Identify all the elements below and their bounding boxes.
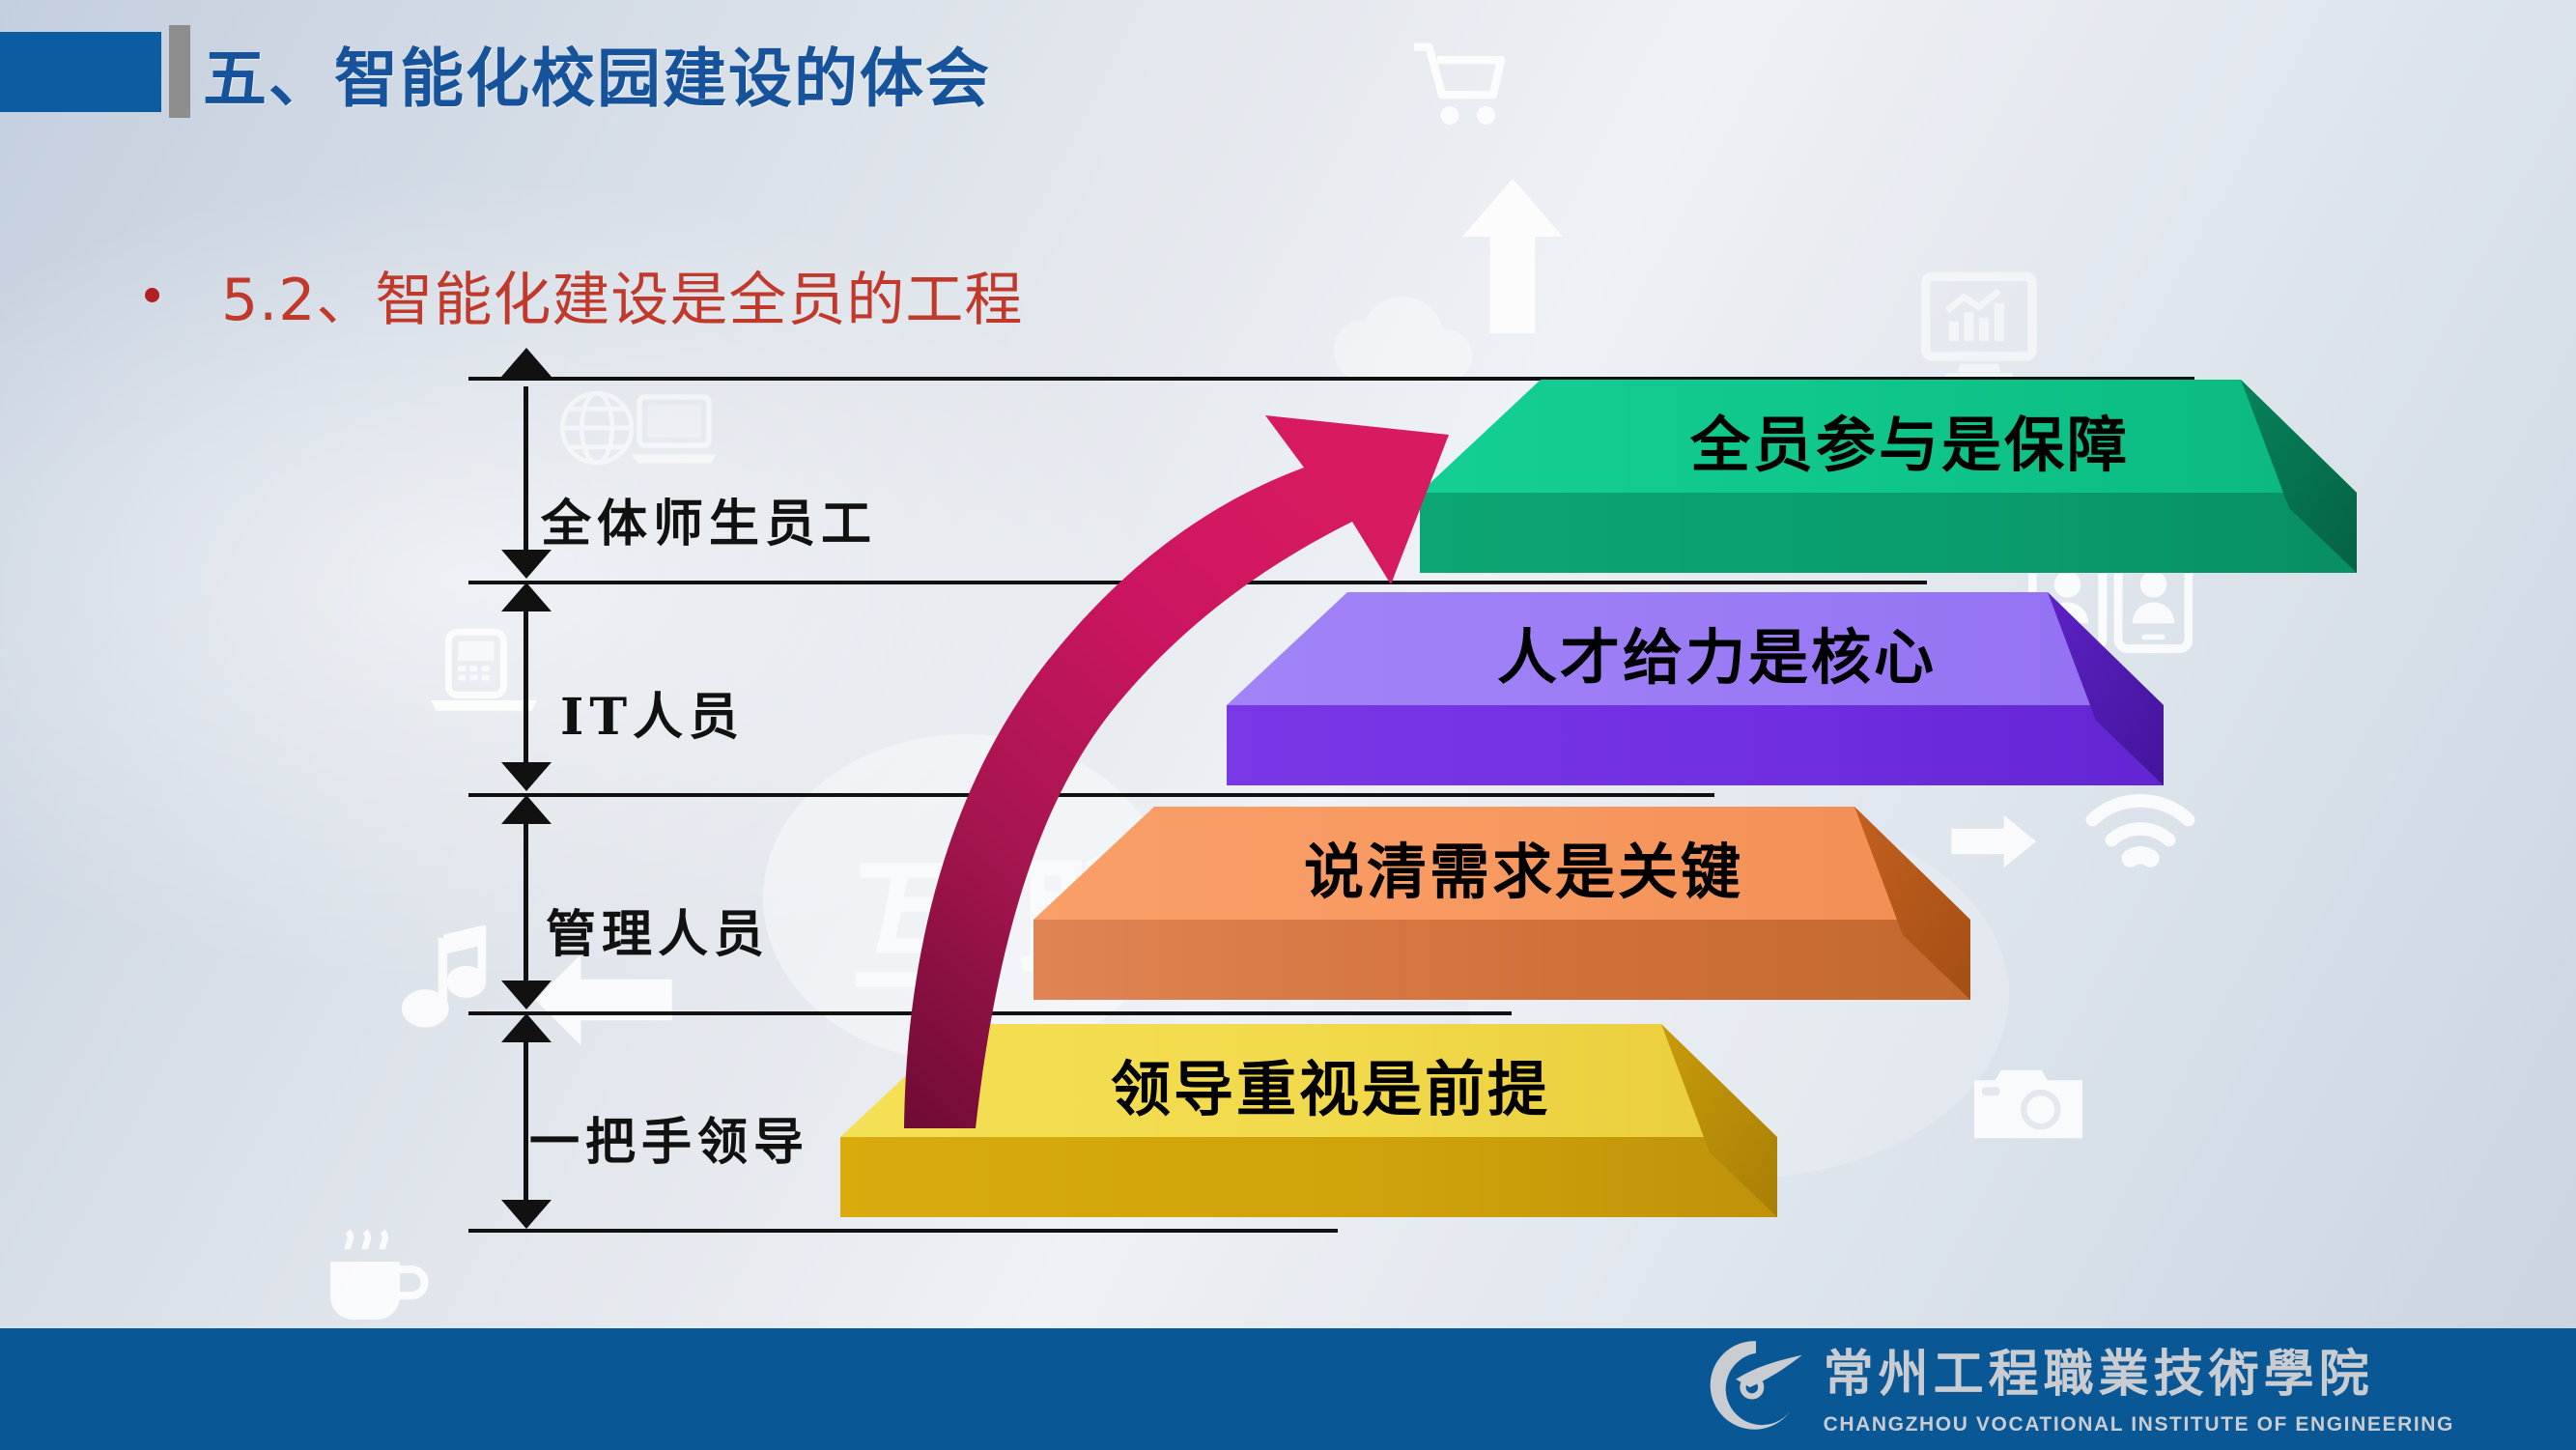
axis-stem-1 [524,1022,528,1221]
grid-line-3 [468,581,1927,584]
axis-label-tier-4: 全体师生员工 [541,483,877,555]
grid-line-top [468,377,2194,381]
wifi-icon [2081,787,2199,876]
institution-logo: 常州工程職業技術學院 CHANGZHOU VOCATIONAL INSTITUT… [1706,1333,2454,1436]
institution-text: 常州工程職業技術學院 CHANGZHOU VOCATIONAL INSTITUT… [1824,1333,2454,1436]
axis-stem-4 [524,386,528,575]
axis-label-tier-1: 一把手领导 [529,1101,809,1174]
header-accent-bar [169,25,190,118]
camera-icon [1970,1058,2086,1147]
phone-icon [425,628,543,719]
page-title: 五、智能化校园建设的体会 [203,27,991,120]
step-slab-4: 全员参与是保障 [1391,365,2357,602]
step-slab-3: 人才给力是核心 [1198,578,2164,814]
arrow-left-icon [526,947,681,1053]
staircase-chart: 全体师生员工 IT人员 管理人员 一把手领导 [0,0,2576,1450]
coffee-cup-icon [319,1227,431,1327]
axis-stem-2 [524,804,528,1003]
music-note-icon [401,923,501,1037]
laptop-icon [628,391,721,469]
arrow-up-icon [1458,174,1567,338]
axis-label-tier-3: IT人员 [560,676,745,749]
step-slab-3-label: 人才给力是核心 [1497,609,1937,696]
step-slab-4-label: 全员参与是保障 [1690,396,2130,483]
institution-name-en: CHANGZHOU VOCATIONAL INSTITUTE OF ENGINE… [1824,1413,2454,1436]
institution-name-cn: 常州工程職業技術學院 [1824,1333,2454,1406]
background-blob-2 [1468,811,2009,1179]
cloud-icon [1323,290,1497,396]
contact-card-icon [2028,541,2193,655]
slide-canvas: 互联 [0,0,2576,1450]
background-ghost-text: 互联 [850,811,1186,1021]
axis-stem-3 [524,589,528,782]
footer-bar: 常州工程職業技術學院 CHANGZHOU VOCATIONAL INSTITUT… [0,1328,2576,1450]
grid-line-bottom [468,1229,1338,1233]
monitor-chart-icon [1917,270,2041,384]
shopping-cart-icon [1410,39,1516,131]
globe-icon [555,386,638,469]
bullet-row: 5.2、智能化建设是全员的工程 [145,253,1023,337]
header-accent-block [0,32,161,112]
axis-label-tier-2: 管理人员 [546,894,770,966]
arrow-right-icon [1951,811,2038,871]
bullet-label: 5.2、智能化建设是全员的工程 [221,253,1023,337]
bullet-dot-icon [145,288,159,302]
logo-mark-icon [1706,1335,1806,1436]
